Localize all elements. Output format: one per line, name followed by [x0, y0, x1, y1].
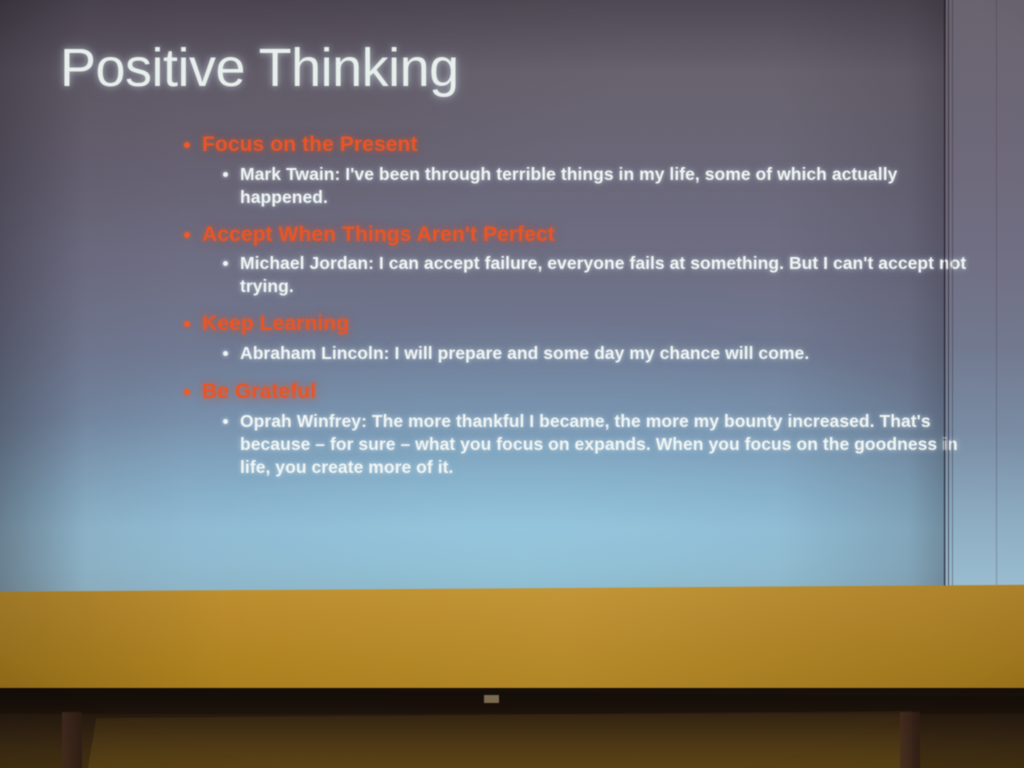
bullet-heading: Focus on the Present	[178, 130, 978, 160]
support-post-left	[62, 712, 82, 768]
bullet-list: Focus on the Present Mark Twain: I've be…	[178, 130, 978, 480]
bullet-heading: Be Grateful	[178, 377, 978, 407]
projected-slide-photo: Positive Thinking Focus on the Present M…	[0, 0, 1024, 768]
sub-bullet-dot-icon	[223, 261, 228, 266]
sub-bullet-dot-icon	[223, 351, 228, 356]
slide-title: Positive Thinking	[60, 40, 459, 97]
bullet-quote: Abraham Lincoln: I will prepare and some…	[218, 342, 978, 365]
bullet-heading: Accept When Things Aren't Perfect	[178, 220, 978, 250]
bullet-dot-icon	[184, 389, 190, 395]
lower-dark-area	[0, 688, 1024, 768]
bullet-group: Focus on the Present Mark Twain: I've be…	[178, 130, 978, 209]
bullet-heading-text: Be Grateful	[202, 380, 316, 403]
bullet-group: Keep Learning Abraham Lincoln: I will pr…	[178, 309, 978, 365]
bullet-quote-text: Oprah Winfrey: The more thankful I becam…	[240, 411, 958, 477]
bullet-heading-text: Accept When Things Aren't Perfect	[202, 223, 555, 246]
bullet-group: Accept When Things Aren't Perfect Michae…	[178, 220, 978, 299]
bullet-quote: Mark Twain: I've been through terrible t…	[218, 163, 978, 209]
bullet-quote: Oprah Winfrey: The more thankful I becam…	[218, 410, 978, 479]
bullet-dot-icon	[184, 142, 190, 148]
bullet-quote-text: Abraham Lincoln: I will prepare and some…	[240, 343, 809, 363]
bullet-quote: Michael Jordan: I can accept failure, ev…	[218, 252, 978, 298]
shelf-shadow	[0, 688, 1024, 714]
sub-bullet-dot-icon	[223, 172, 228, 177]
bullet-quote-text: Mark Twain: I've been through terrible t…	[240, 164, 897, 207]
bullet-quote-text: Michael Jordan: I can accept failure, ev…	[240, 253, 966, 296]
bullet-heading-text: Focus on the Present	[202, 133, 418, 156]
bullet-heading: Keep Learning	[178, 309, 978, 339]
bullet-group: Be Grateful Oprah Winfrey: The more than…	[178, 377, 978, 479]
bullet-dot-icon	[184, 321, 190, 327]
sub-bullet-dot-icon	[223, 419, 228, 424]
recessed-panel	[88, 710, 912, 768]
bullet-dot-icon	[184, 232, 190, 238]
support-post-right	[900, 712, 920, 768]
bullet-heading-text: Keep Learning	[202, 312, 349, 335]
small-fixture	[484, 695, 499, 703]
